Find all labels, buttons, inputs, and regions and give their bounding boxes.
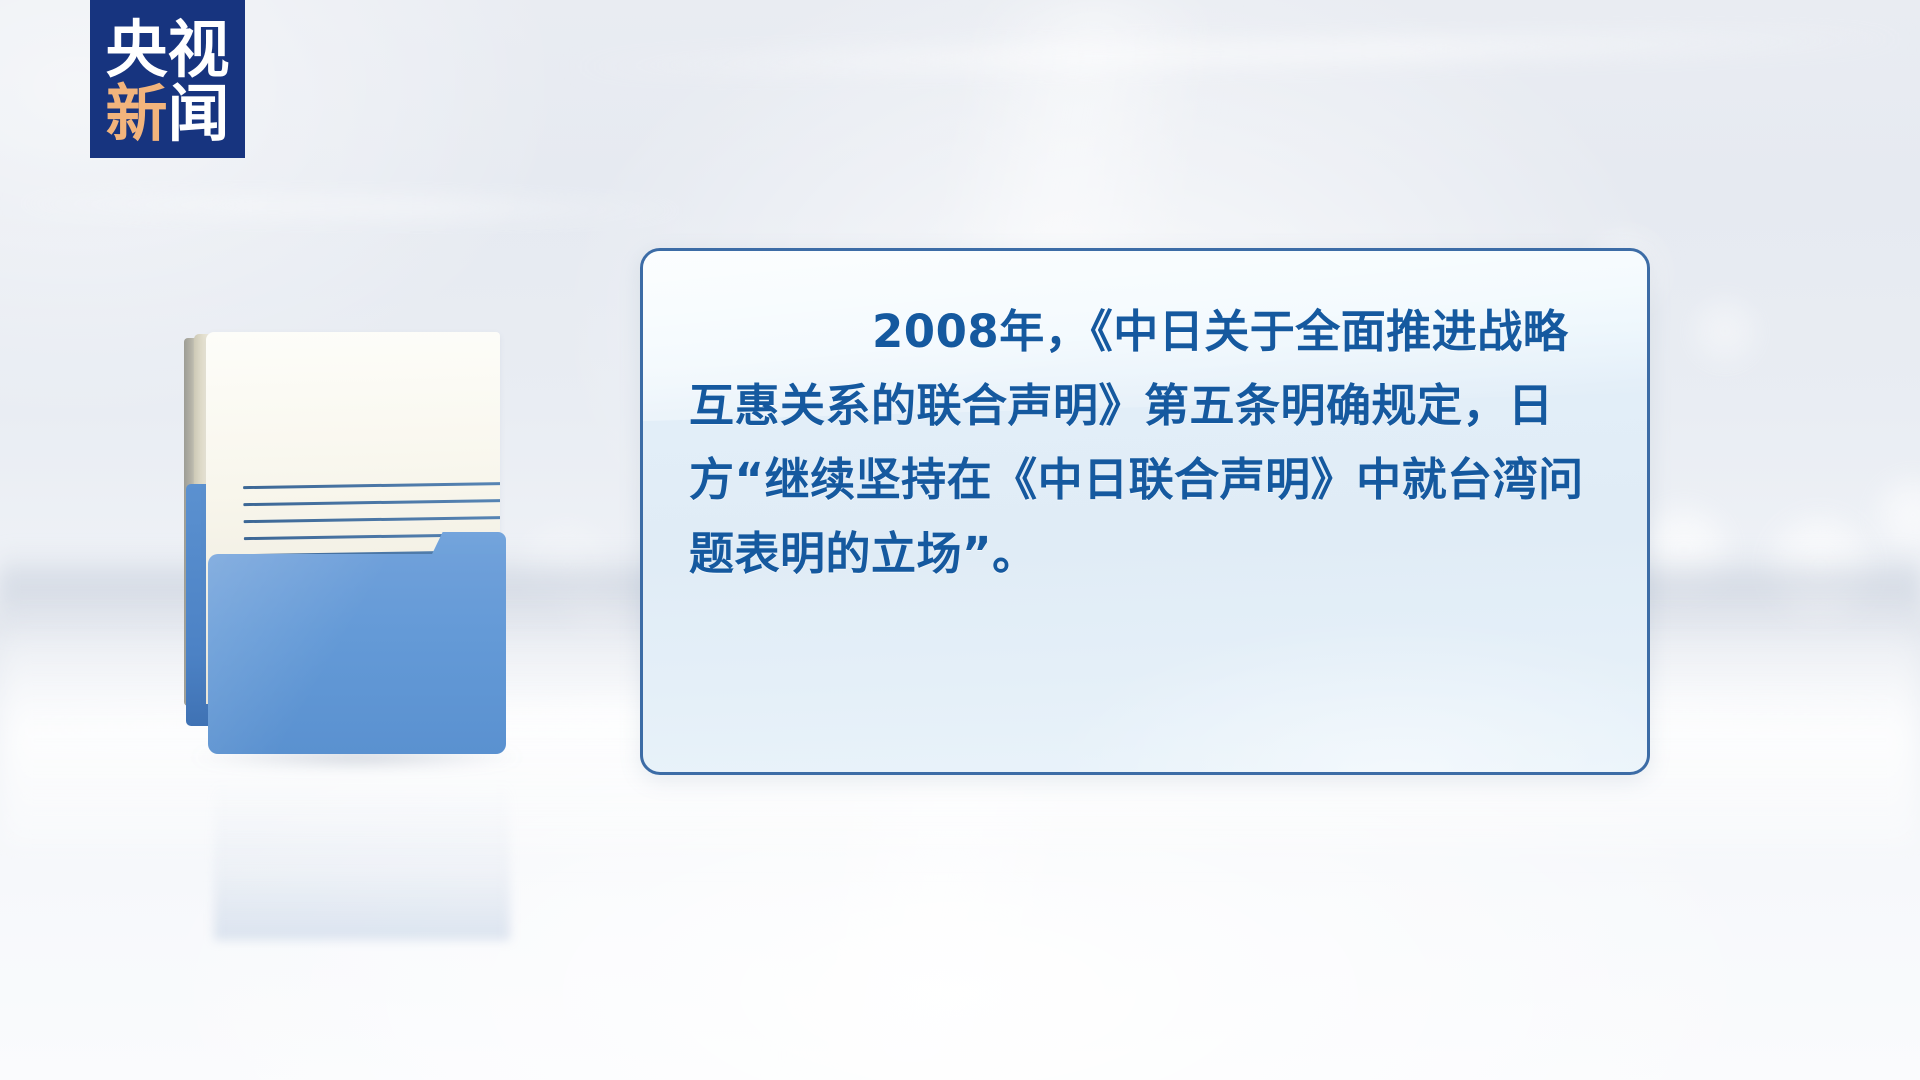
- folder-highlight: [208, 554, 506, 754]
- document-line: [243, 482, 500, 489]
- folder-front-pocket: [208, 554, 506, 754]
- screenshot-canvas: 央视 新 闻: [0, 0, 1920, 1080]
- card-corner-glow: [1045, 616, 1650, 775]
- document-line: [244, 516, 500, 523]
- document-folder-icon: [178, 318, 498, 768]
- document-line: [243, 499, 500, 506]
- logo-char-wen: 闻: [168, 84, 230, 145]
- logo-line-top: 央视: [105, 20, 229, 81]
- logo-line-bottom: 新 闻: [105, 84, 229, 145]
- logo-char-yang: 央视: [105, 20, 229, 81]
- logo-char-xin: 新: [105, 84, 167, 145]
- icon-floor-reflection: [214, 760, 510, 940]
- quote-card-body: 2008年，《中日关于全面推进战略互惠关系的联合声明》第五条明确规定，日方“继续…: [643, 251, 1647, 591]
- quote-paragraph: 2008年，《中日关于全面推进战略互惠关系的联合声明》第五条明确规定，日方“继续…: [689, 295, 1601, 591]
- cctv-news-logo: 央视 新 闻: [90, 0, 245, 158]
- quote-card: 2008年，《中日关于全面推进战略互惠关系的联合声明》第五条明确规定，日方“继续…: [640, 248, 1650, 775]
